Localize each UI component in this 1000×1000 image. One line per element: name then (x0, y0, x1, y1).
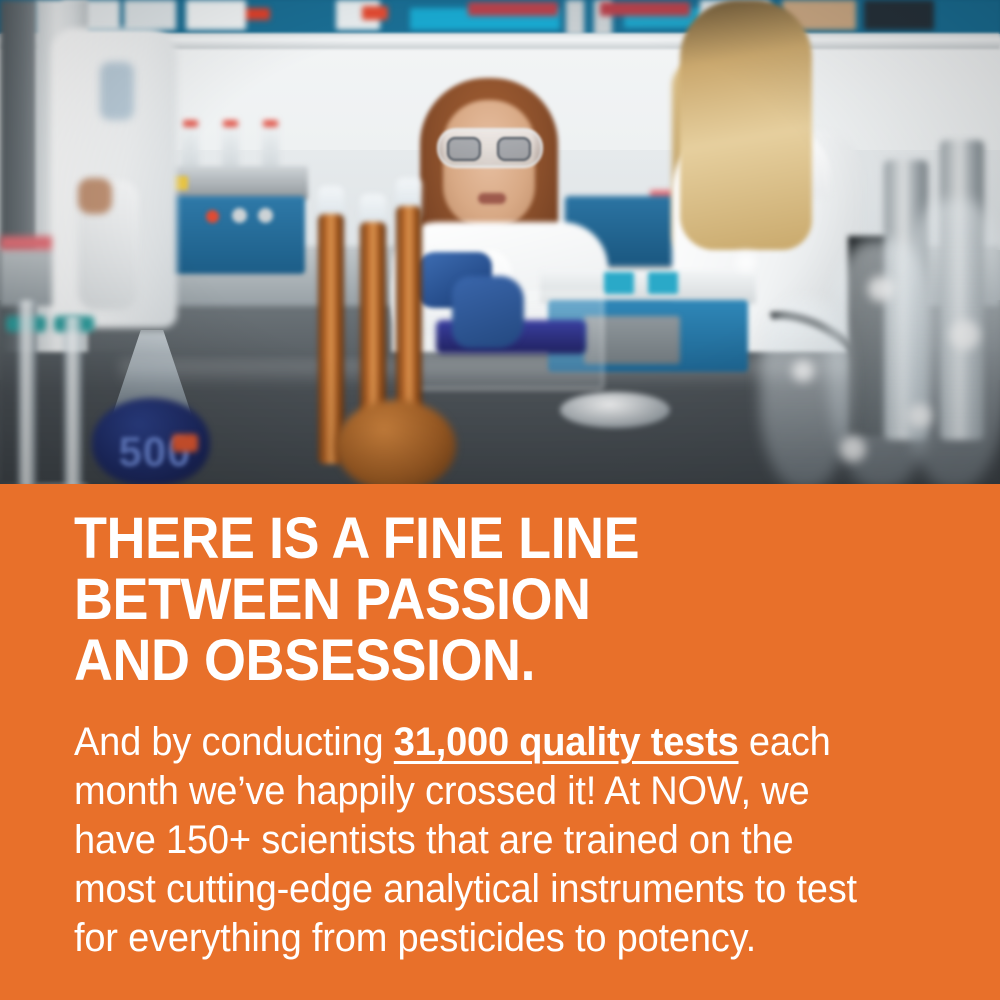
headline-line-1: THERE IS A FINE LINE (74, 508, 892, 569)
promo-poster: 500 THERE IS A FINE LINE BETWEEN PASSION… (0, 0, 1000, 1000)
body-text-before: And by conducting (74, 720, 394, 764)
page-title: THERE IS A FINE LINE BETWEEN PASSION AND… (74, 508, 892, 691)
headline-line-3: AND OBSESSION. (74, 630, 892, 691)
quality-tests-emphasis: 31,000 quality tests (394, 720, 739, 764)
photo-vignette (0, 0, 1000, 484)
lab-photograph: 500 (0, 0, 1000, 484)
body-paragraph: And by conducting 31,000 quality tests e… (74, 718, 882, 963)
headline-line-2: BETWEEN PASSION (74, 569, 892, 630)
